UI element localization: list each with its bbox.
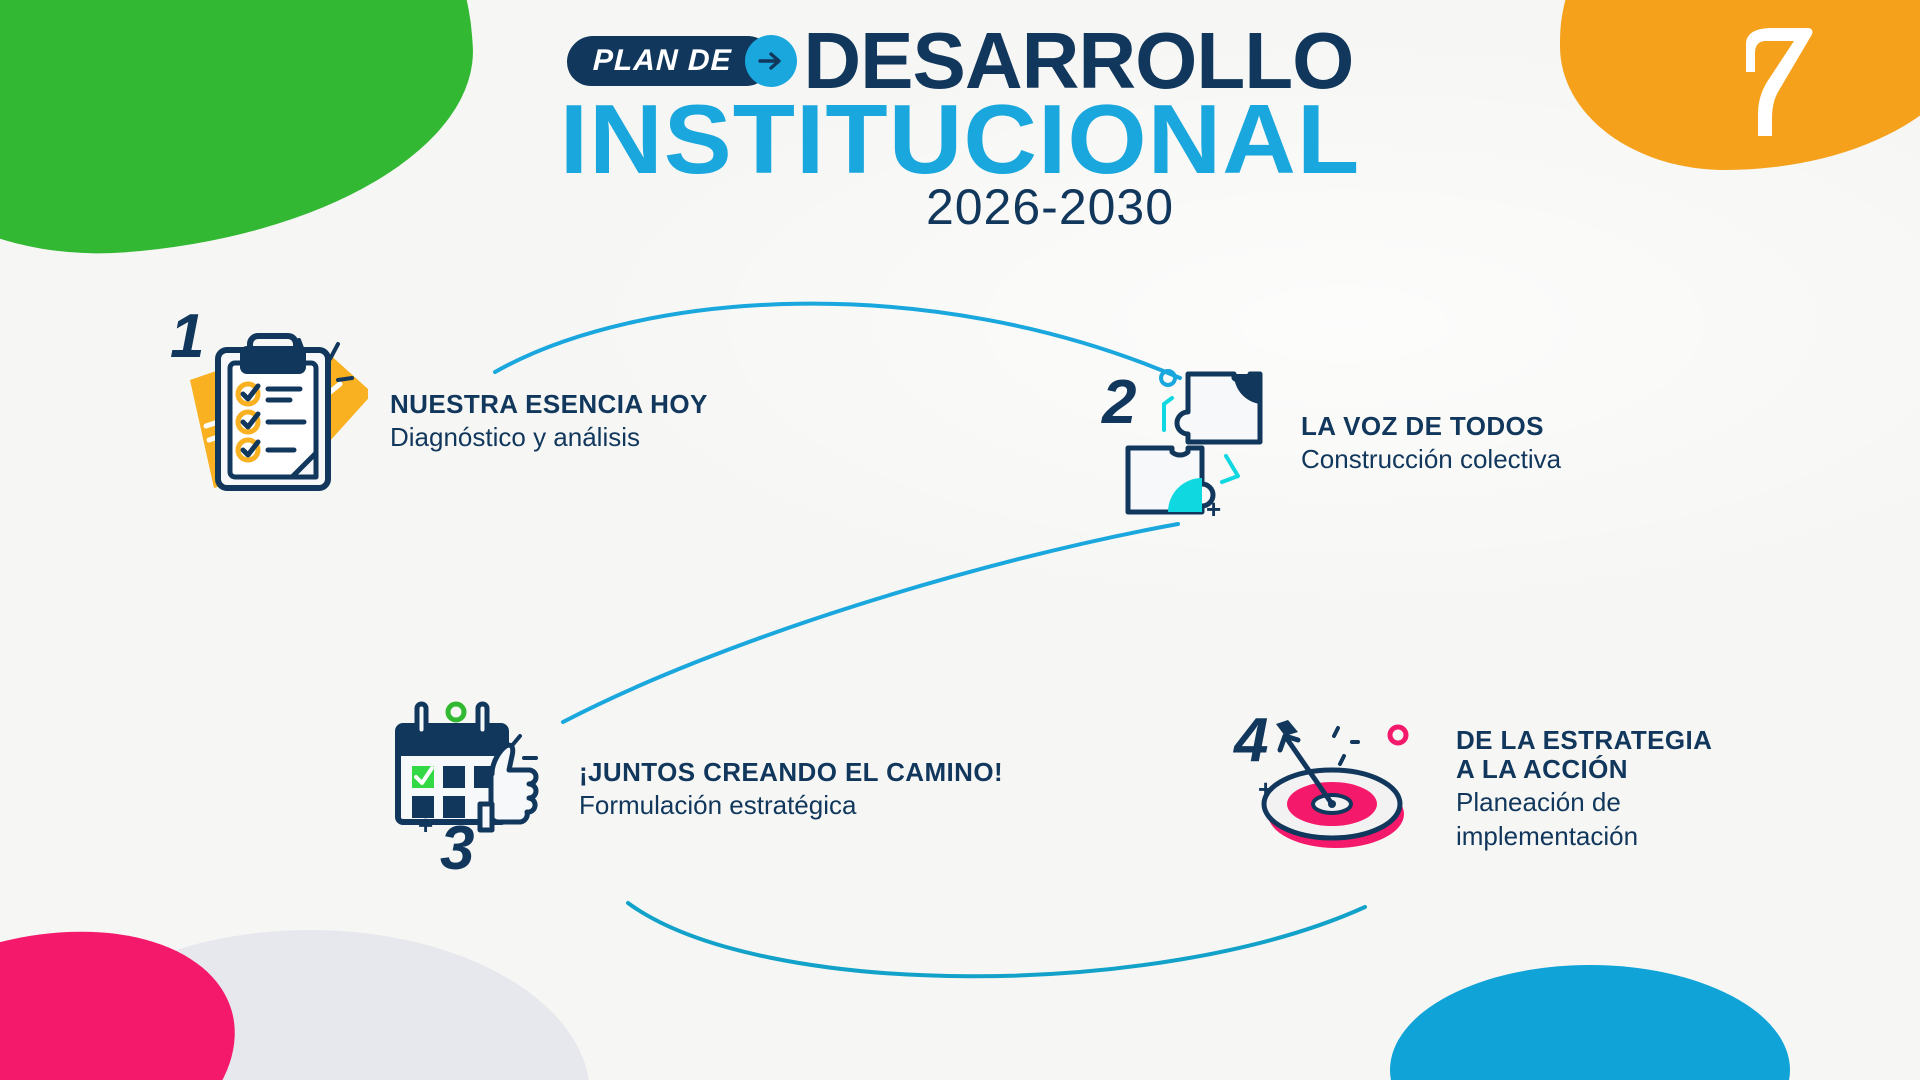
step-4-title-line2: A LA ACCIÓN: [1456, 755, 1712, 784]
step-3-subtitle: Formulación estratégica: [579, 790, 1003, 821]
connector-2-to-3: [563, 524, 1178, 722]
arrow-right-icon: [745, 35, 797, 87]
connector-3-to-4: [628, 903, 1365, 976]
step-4-text: DE LA ESTRATEGIA A LA ACCIÓN Planeación …: [1456, 726, 1712, 852]
decorative-cyan-blob: [1390, 965, 1790, 1080]
step-1-subtitle: Diagnóstico y análisis: [390, 422, 708, 453]
step-number-3: 3: [440, 818, 474, 880]
step-3-title: ¡JUNTOS CREANDO EL CAMINO!: [579, 758, 1003, 787]
target-arrow-icon: 4 +: [1240, 718, 1430, 858]
puzzle-pieces-icon: 2 +: [1110, 360, 1285, 525]
step-2-title: LA VOZ DE TODOS: [1301, 412, 1561, 441]
step-number-4: 4: [1234, 710, 1268, 772]
step-4-title-line1: DE LA ESTRATEGIA: [1456, 726, 1712, 755]
title-institucional: INSTITUCIONAL: [0, 96, 1920, 182]
step-item-1[interactable]: 1 NUE: [178, 318, 708, 498]
step-2-subtitle: Construcción colectiva: [1301, 444, 1561, 475]
step-4-subtitle-line2: implementación: [1456, 821, 1712, 852]
page-header: PLAN DE DESARROLLO INSTITUCIONAL 2026-20…: [0, 18, 1920, 236]
step-2-text: LA VOZ DE TODOS Construcción colectiva: [1301, 412, 1561, 475]
plan-de-badge: PLAN DE: [566, 36, 772, 86]
step-number-2: 2: [1102, 372, 1136, 434]
step-item-4[interactable]: 4 + DE LA ESTRATEGIA A LA ACCIÓN Planeac…: [1240, 718, 1712, 858]
step-3-text: ¡JUNTOS CREANDO EL CAMINO! Formulación e…: [579, 758, 1003, 821]
step-number-1: 1: [170, 306, 204, 368]
calendar-thumbs-up-icon: 3 +: [388, 700, 563, 855]
clipboard-checklist-icon: 1: [178, 318, 368, 498]
step-2-plus-accent: +: [1206, 494, 1221, 525]
step-item-2[interactable]: 2 + LA VOZ DE TODOS Construcción colecti…: [1110, 360, 1561, 525]
step-item-3[interactable]: 3 + ¡JUNTOS CREANDO EL CAMINO! Formulaci…: [388, 700, 1003, 855]
step-4-subtitle-line1: Planeación de: [1456, 787, 1712, 818]
step-1-title: NUESTRA ESENCIA HOY: [390, 390, 708, 419]
step-3-plus-accent: +: [418, 810, 433, 841]
step-1-text: NUESTRA ESENCIA HOY Diagnóstico y anális…: [390, 390, 708, 453]
step-4-plus-accent: +: [1258, 774, 1273, 805]
